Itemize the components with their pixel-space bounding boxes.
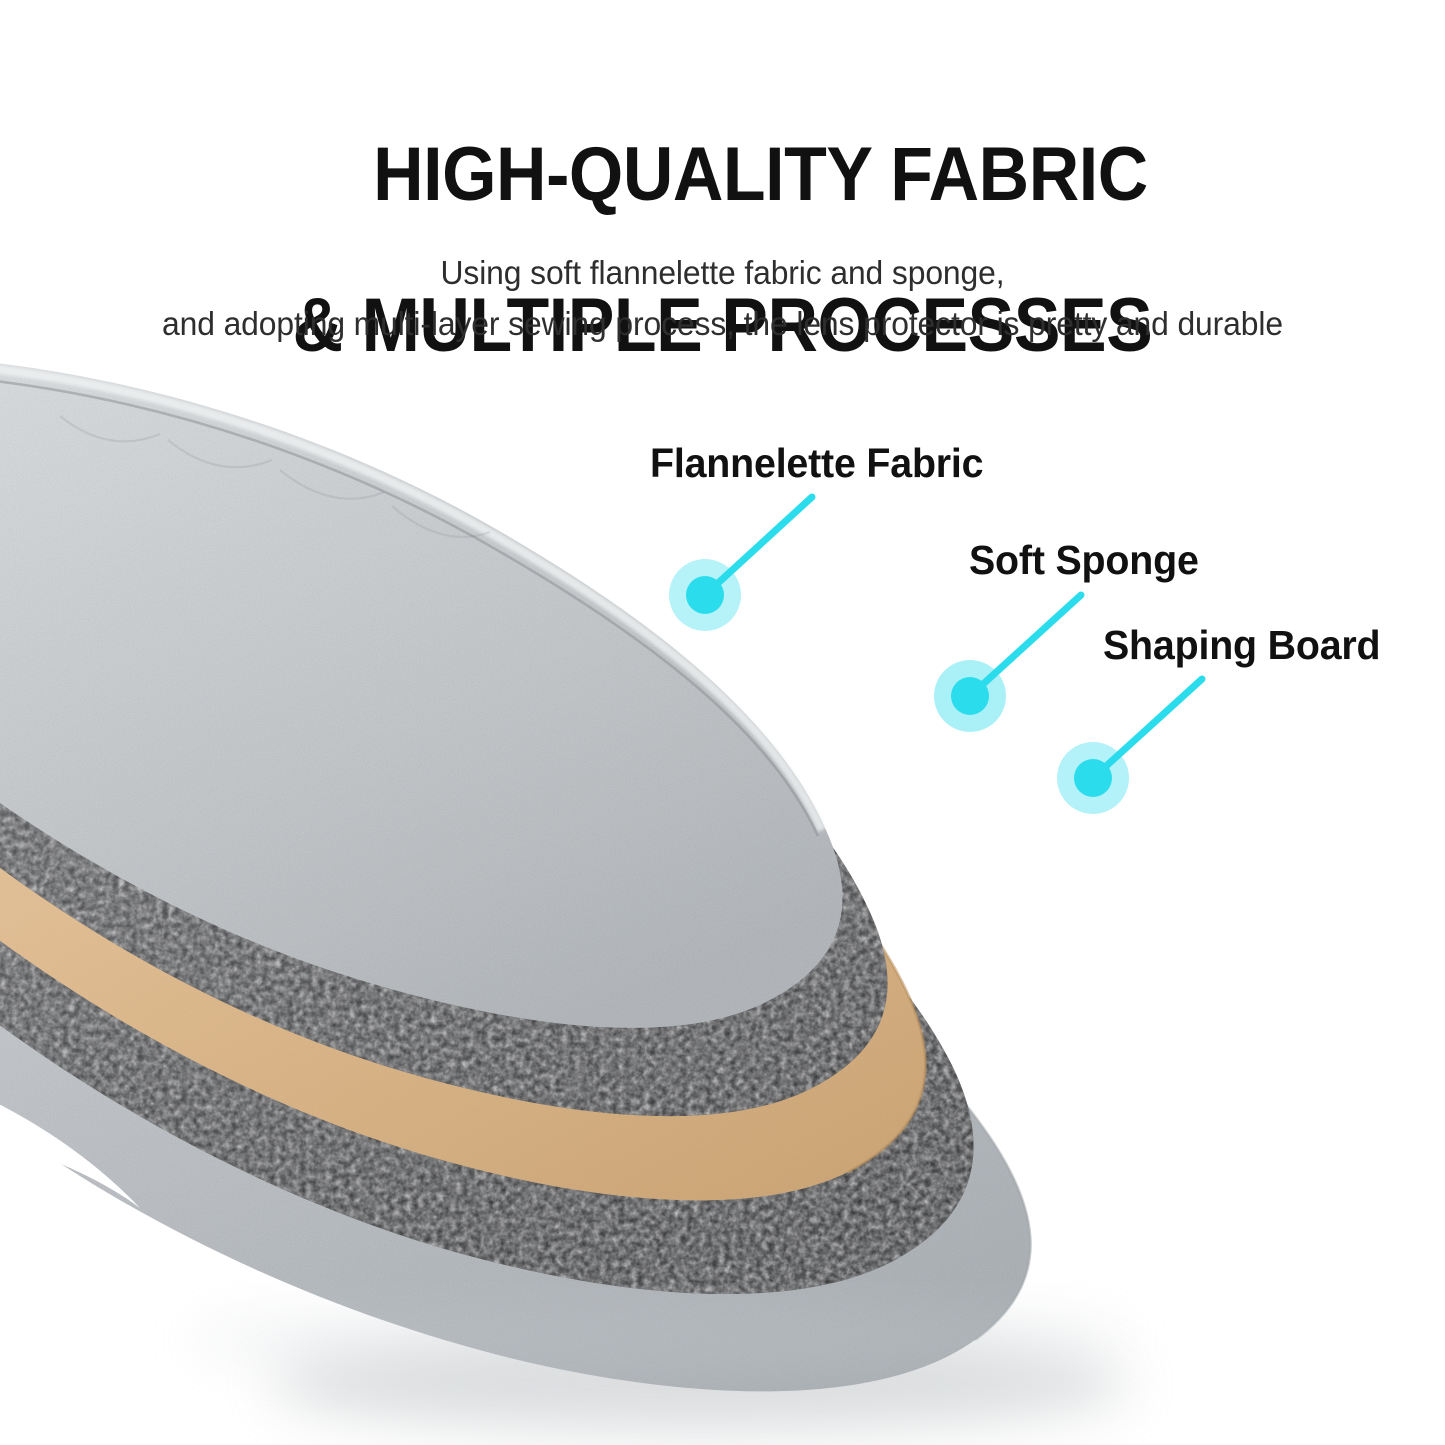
page-subtitle-line-1: Using soft flannelette fabric and sponge… — [36, 249, 1409, 300]
product-layer-illustration — [0, 330, 1445, 1445]
callout-label-shaping-board: Shaping Board — [1103, 622, 1380, 669]
page-title-line-1: HIGH-QUALITY FABRIC — [373, 132, 1148, 217]
infographic-canvas: HIGH-QUALITY FABRIC & MULTIPLE PROCESSES… — [0, 0, 1445, 1445]
callout-label-flannelette-fabric: Flannelette Fabric — [650, 440, 983, 487]
callout-label-soft-sponge: Soft Sponge — [969, 537, 1199, 584]
